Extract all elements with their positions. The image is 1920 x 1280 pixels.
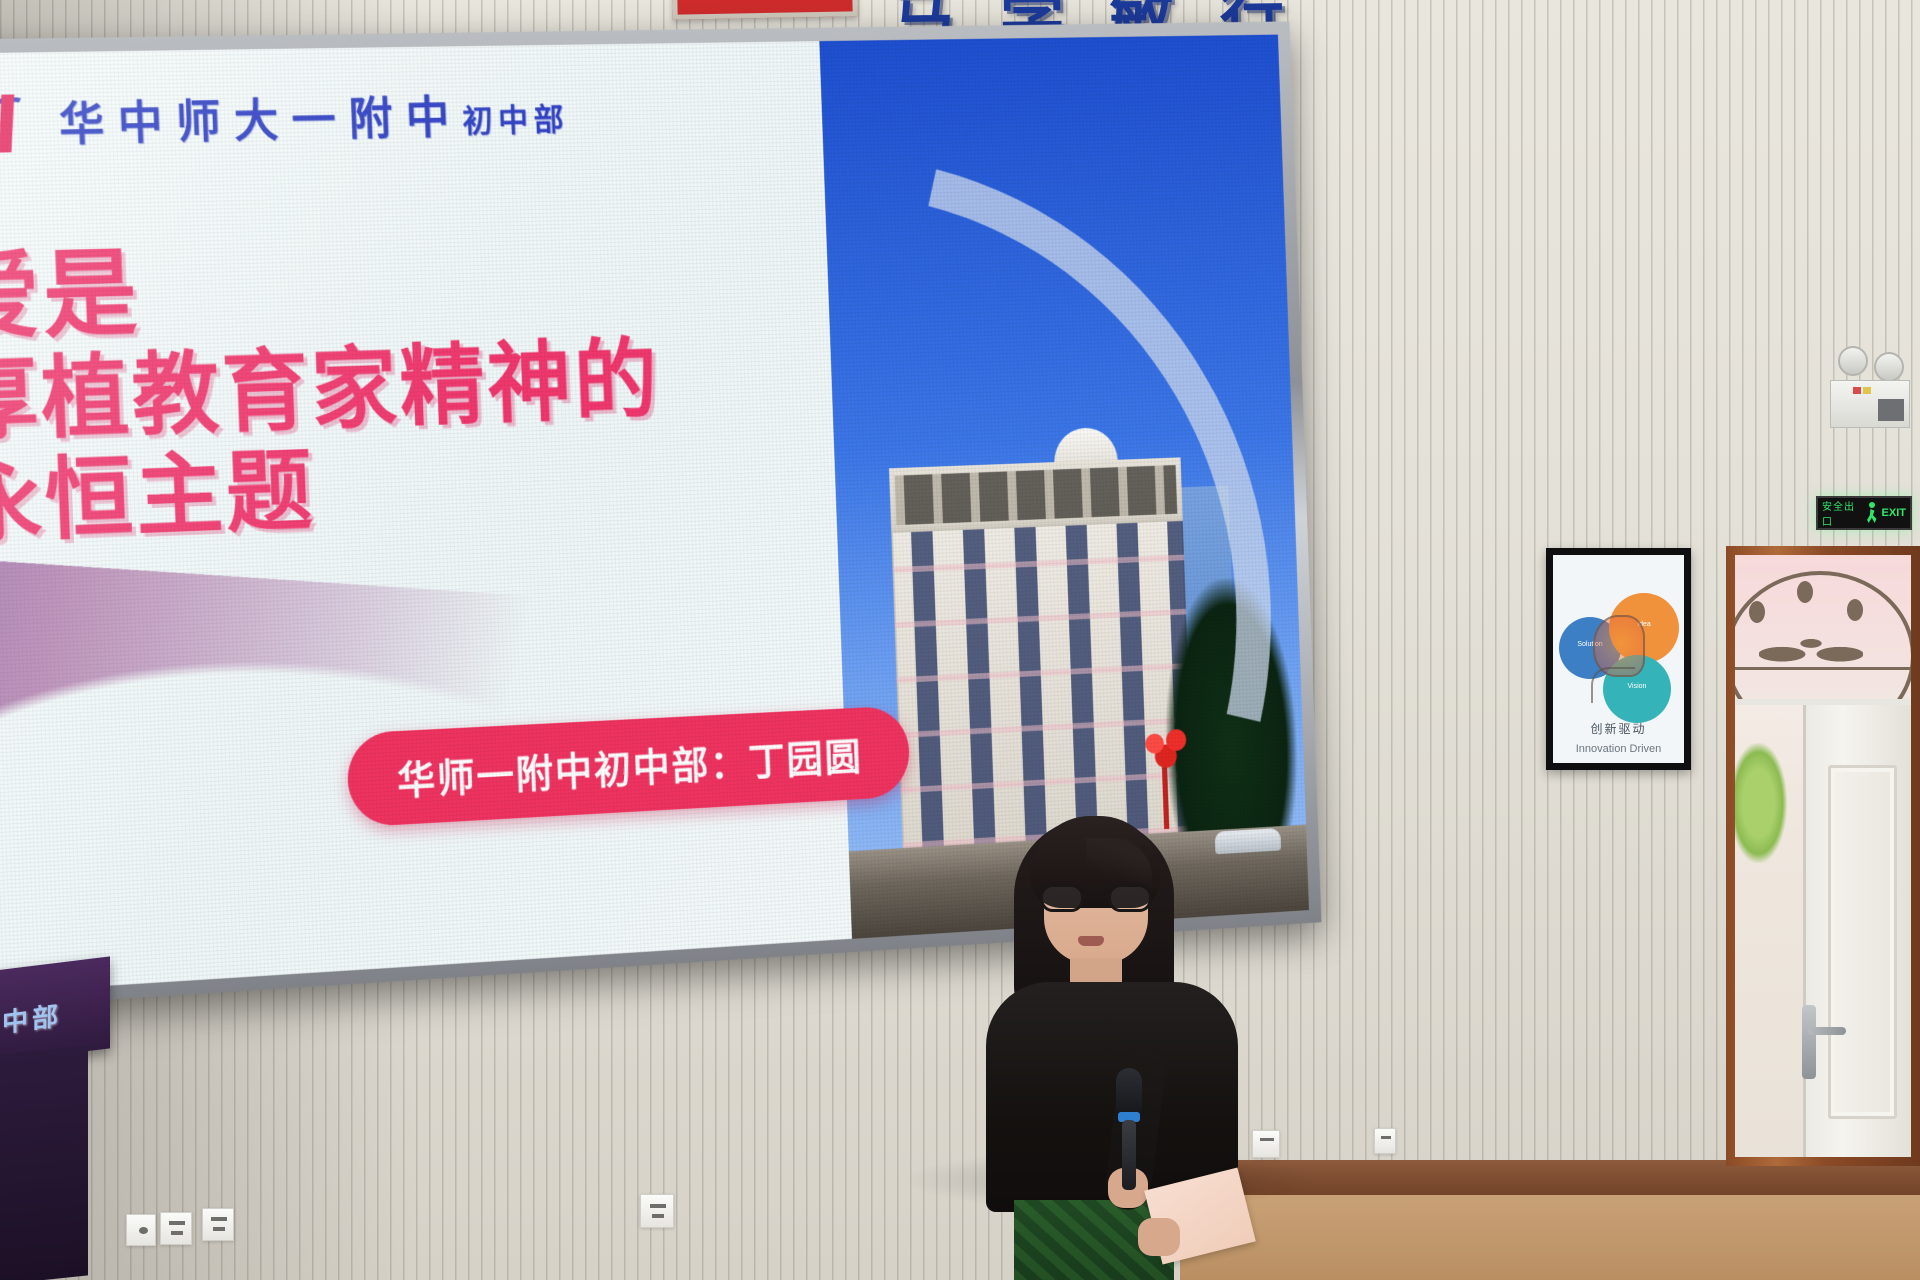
- transom-bar: [1735, 667, 1911, 670]
- door-panel: [1828, 765, 1897, 1119]
- slide-school-logo-row: 华中师大一附中初中部: [0, 78, 570, 158]
- poster-artwork: Solution Idea Vision 创新驱动 Innovation Dri…: [1553, 555, 1684, 763]
- running-person-icon: [1863, 501, 1882, 525]
- presenter-hand-holding-paper: [1138, 1218, 1180, 1256]
- exit-sign-label-cn: 安全出口: [1822, 498, 1863, 528]
- emergency-lamp-right: [1874, 352, 1904, 382]
- emergency-light-body: [1830, 380, 1910, 428]
- school-logo-icon: [0, 86, 35, 157]
- emergency-lamp-left: [1838, 346, 1868, 376]
- school-logo-suffix: 初中部: [462, 101, 570, 140]
- lectern: 初中部: [0, 965, 110, 1280]
- transom-window: [1735, 555, 1911, 705]
- exit-sign-label-en: EXIT: [1882, 507, 1906, 519]
- transom-ball-1: [1797, 581, 1813, 603]
- lectern-body: [0, 1045, 88, 1280]
- door-leaf[interactable]: [1803, 705, 1911, 1157]
- photo-scene: 马 学 敏 行: [0, 0, 1920, 1280]
- poster-caption-cn: 创新驱动: [1553, 720, 1684, 737]
- wall-outlet-5: [1374, 1128, 1396, 1154]
- transom-ball-3: [1749, 601, 1765, 623]
- wall-outlet-3: [640, 1194, 674, 1228]
- framed-poster: Solution Idea Vision 创新驱动 Innovation Dri…: [1546, 548, 1691, 770]
- door-handle[interactable]: [1802, 1005, 1816, 1079]
- poster-caption-en: Innovation Driven: [1553, 743, 1684, 755]
- wall-outlet-2: [202, 1208, 234, 1241]
- door-opening: [1735, 555, 1911, 1157]
- doorway[interactable]: [1726, 546, 1920, 1166]
- emergency-light-display: [1878, 399, 1904, 421]
- school-logo-main: 华中师大一附中: [58, 90, 463, 150]
- school-logo-text: 华中师大一附中初中部: [58, 80, 570, 154]
- slide-title: 爱是 厚植教育家精神的 永恒主题: [0, 227, 665, 556]
- transom-ball-2: [1847, 599, 1863, 621]
- poster-hand-illustration: [1591, 667, 1635, 703]
- presenter: [980, 800, 1250, 1280]
- presenter-mouth: [1078, 936, 1104, 946]
- wall-outlet-1: [160, 1212, 192, 1245]
- microphone-icon: [1116, 1068, 1142, 1188]
- emergency-light-fixture: [1828, 346, 1912, 438]
- wall-switch-plate: [126, 1214, 156, 1246]
- outdoor-view: [1735, 705, 1803, 1157]
- glasses-icon: [1040, 884, 1152, 912]
- emergency-exit-sign: 安全出口 EXIT: [1816, 496, 1912, 530]
- transom-ornament: [1759, 629, 1863, 665]
- outdoor-foliage: [1735, 743, 1787, 863]
